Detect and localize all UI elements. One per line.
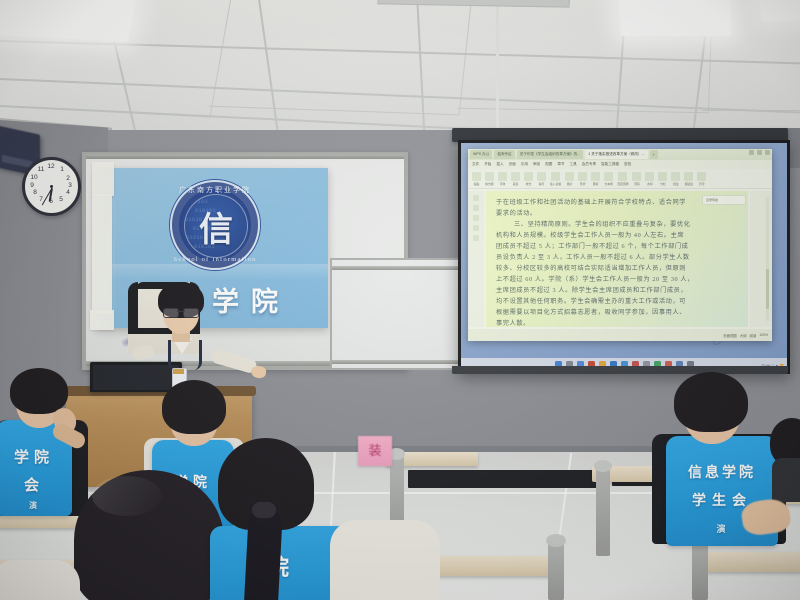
window-controls[interactable] xyxy=(749,150,770,155)
document-left-rail[interactable] xyxy=(468,191,484,327)
document-line: 根据需要以项目化方式招募志愿者，吸收同学参加，因事用人、 xyxy=(496,307,738,318)
view-mode[interactable]: 阅读 xyxy=(750,333,757,338)
document-line: 事完人散。 xyxy=(496,318,738,327)
vest-text-line1: 学院 xyxy=(0,446,72,467)
bookmark-icon[interactable] xyxy=(473,225,479,231)
ribbon-button[interactable]: 图标 xyxy=(591,172,600,186)
ribbon-button[interactable]: 水印 xyxy=(645,172,654,186)
desk-side-panel xyxy=(548,540,564,600)
document-line: 要求的活动。 xyxy=(496,208,738,219)
ribbon-button[interactable]: 超链接 xyxy=(684,172,693,186)
menu-item[interactable]: 引用 xyxy=(521,162,528,167)
document-line: 三、坚持精简原则。学生会的组织不应重叠与复杂，要优化 xyxy=(496,219,738,230)
clock-numeral: 12 xyxy=(46,163,56,171)
ribbon-button[interactable]: 页码 xyxy=(632,172,641,186)
document-tab-bar[interactable]: WPS 办公 稻壳专区 关于印发《学生会组织改革方案》的... 1 关于落实推进… xyxy=(468,149,772,160)
student-bottom-left-shoulder xyxy=(0,560,80,600)
clock-numeral: 9 xyxy=(27,182,37,190)
hair-tie xyxy=(252,502,276,518)
ribbon-button[interactable]: 批注 xyxy=(671,172,680,186)
format-brush-icon[interactable] xyxy=(485,172,494,181)
navigation-pane-card[interactable]: 目录导航 xyxy=(702,195,746,205)
document-line: 上不超过 60 人。学院（系）学生会工作人员一般为 20 至 30 人， xyxy=(496,274,738,285)
presenter-lanyard xyxy=(168,340,202,370)
menu-item[interactable]: 智能工具箱 xyxy=(601,162,619,167)
close-icon[interactable] xyxy=(765,150,770,155)
menu-item[interactable]: 视图 xyxy=(545,162,552,167)
document-page[interactable]: 于在班级工作和社团活动的基础上开展符合学校特点、适合同学 要求的活动。 三、坚持… xyxy=(486,191,748,327)
menu-item[interactable]: 开始 xyxy=(484,162,491,167)
watermark-icon[interactable] xyxy=(645,172,654,181)
desk-side-panel xyxy=(596,466,610,556)
picture-icon[interactable] xyxy=(565,172,574,181)
menu-item[interactable]: 页面 xyxy=(509,162,516,167)
ribbon-button[interactable]: 插入表格 xyxy=(550,172,561,186)
whiteboard-right-panel xyxy=(330,258,462,370)
ribbon-button[interactable]: 分栏 xyxy=(658,172,667,186)
styles-icon[interactable] xyxy=(524,172,533,181)
clock-center-pin xyxy=(50,185,53,188)
comment-icon[interactable] xyxy=(671,172,680,181)
app-tab[interactable]: WPS 办公 xyxy=(470,150,492,159)
minimize-icon[interactable] xyxy=(749,150,754,155)
ribbon-button[interactable]: 图片 xyxy=(565,172,574,186)
logo-inner-disc: 010101 010101 010101 010101 010101 01010… xyxy=(184,194,248,258)
clock-numeral: 8 xyxy=(30,189,40,197)
document-line: 较多、分校区较多的高校可结合实际适当增加工作人员，但原则 xyxy=(496,263,738,274)
app-tab-new[interactable]: + xyxy=(650,150,658,159)
classroom-photo-scene: 12 1 2 3 4 5 6 7 8 9 10 11 广东南方职业学院 Scho… xyxy=(0,0,800,600)
hyperlink-icon[interactable] xyxy=(684,172,693,181)
icon-library-icon[interactable] xyxy=(591,172,600,181)
search-icon[interactable]: 查找 xyxy=(624,162,631,167)
ceiling-light xyxy=(758,0,800,22)
app-tab[interactable]: 关于印发《学生会组织改革方案》的... xyxy=(517,150,584,159)
ponytail xyxy=(243,509,283,600)
presenter-id-badge-stripe xyxy=(173,369,184,374)
projector-screen-bottom-bar xyxy=(452,366,788,374)
view-mode[interactable]: 大纲 xyxy=(740,333,747,338)
font-icon[interactable] xyxy=(498,172,507,181)
document-status-bar[interactable]: 页面视图 大纲 阅读 100% xyxy=(468,329,772,341)
ribbon-button[interactable]: 样式 xyxy=(524,172,533,186)
projection-screen: WPS 办公 稻壳专区 关于印发《学生会组织改革方案》的... 1 关于落实推进… xyxy=(458,140,790,374)
clock-numeral: 1 xyxy=(57,166,67,174)
document-app-window[interactable]: WPS 办公 稻壳专区 关于印发《学生会组织改革方案》的... 1 关于落实推进… xyxy=(468,149,772,341)
logo-character: 信 xyxy=(185,195,247,257)
menu-item[interactable]: 会员专享 xyxy=(582,162,596,167)
banner-tape xyxy=(92,162,114,196)
maximize-icon[interactable] xyxy=(757,150,762,155)
student-hair xyxy=(162,380,226,434)
student-front-right-shoulder xyxy=(330,520,440,600)
student-hair xyxy=(674,372,748,432)
ribbon-button[interactable]: 形状 xyxy=(578,172,587,186)
document-line: 员设负责人 2 至 3 人，工作人员一般不超过 6 人。部分学生人数 xyxy=(496,252,738,263)
student-hair xyxy=(10,368,68,414)
desktop-background: WPS 办公 稻壳专区 关于印发《学生会组织改革方案》的... 1 关于落实推进… xyxy=(461,143,787,371)
vest-text-line3: 演 xyxy=(0,500,72,511)
shape-icon[interactable] xyxy=(578,172,587,181)
ceiling xyxy=(0,0,800,136)
desk-leg-cap xyxy=(546,534,566,547)
ribbon-button[interactable]: 格式刷 xyxy=(485,172,494,186)
document-line: 均不设置其他任何职务。学生会确需主办的重大工作或活动，可 xyxy=(496,296,738,307)
insert-table-icon[interactable] xyxy=(551,172,560,181)
document-line: 机构和人员规模。校级学生会工作人员一般为 40 人左右。主席 xyxy=(496,230,738,241)
thumbnail-icon[interactable] xyxy=(473,215,479,221)
columns-icon[interactable] xyxy=(658,172,667,181)
document-line: 团成员不超过 5 人；工作部门一般不超过 6 个，每个工作部门成 xyxy=(496,241,738,252)
header-footer-icon[interactable] xyxy=(618,172,627,181)
page-number-icon[interactable] xyxy=(632,172,641,181)
zoom-level[interactable]: 100% xyxy=(759,333,768,337)
menu-item[interactable]: 工具 xyxy=(570,162,577,167)
vest-text-line1: 信息学院 xyxy=(666,462,778,482)
document-scrollbar-thumb[interactable] xyxy=(766,269,769,309)
ribbon-button[interactable]: 粘贴 xyxy=(472,172,481,186)
textbox-icon[interactable] xyxy=(604,172,613,181)
menu-item[interactable]: 章节 xyxy=(557,162,564,167)
ribbon-button[interactable]: 页眉页脚 xyxy=(617,172,628,186)
student-far-right xyxy=(770,418,800,498)
ceiling-light xyxy=(0,0,137,42)
app-tab[interactable]: 稻壳专区 xyxy=(494,150,514,159)
menu-item[interactable]: 插入 xyxy=(496,162,503,167)
glasses-icon xyxy=(163,308,199,316)
vest-text-line2: 会 xyxy=(0,474,72,495)
document-line: 主席团成员不超过 3 人。除学生会主席团成员和工作部门成员， xyxy=(496,285,738,296)
ribbon-button[interactable]: 文本框 xyxy=(604,172,613,186)
view-mode[interactable]: 页面视图 xyxy=(723,333,737,338)
outline-icon[interactable] xyxy=(473,205,479,211)
document-ribbon-toolbar[interactable]: 粘贴 格式刷 字体 段落 样式 编号 插入表格 图片 形状 图标 文本框 页眉页… xyxy=(468,169,772,189)
ceiling-light xyxy=(619,0,731,36)
paragraph-icon[interactable] xyxy=(511,172,520,181)
ribbon-button[interactable]: 段落 xyxy=(511,172,520,186)
symbol-icon[interactable] xyxy=(697,172,706,181)
navigation-icon[interactable] xyxy=(473,195,479,201)
ribbon-button[interactable]: 编号 xyxy=(537,172,546,186)
menu-item[interactable]: 文件 xyxy=(472,162,479,167)
ribbon-button[interactable]: 符号 xyxy=(697,172,706,186)
school-logo: 广东南方职业学院 School of Information 010101 01… xyxy=(170,180,260,270)
clock-numeral: 10 xyxy=(29,174,39,182)
clock-numeral: 11 xyxy=(36,166,46,174)
desk-leg-cap xyxy=(594,460,612,472)
paste-icon[interactable] xyxy=(472,172,481,181)
numbering-icon[interactable] xyxy=(537,172,546,181)
ribbon-button[interactable]: 字体 xyxy=(498,172,507,186)
menu-item[interactable]: 审阅 xyxy=(533,162,540,167)
document-menu-bar[interactable]: 文件 开始 插入 页面 引用 审阅 视图 章节 工具 会员专享 智能工具箱 查找 xyxy=(468,160,772,169)
clock-numeral: 5 xyxy=(56,196,66,204)
bench-back xyxy=(408,470,608,488)
app-tab-active[interactable]: 1 关于落实推进改革方案（修改）... xyxy=(585,150,647,159)
wall-clock: 12 1 2 3 4 5 6 7 8 9 10 11 xyxy=(22,157,81,216)
find-icon[interactable] xyxy=(473,235,479,241)
